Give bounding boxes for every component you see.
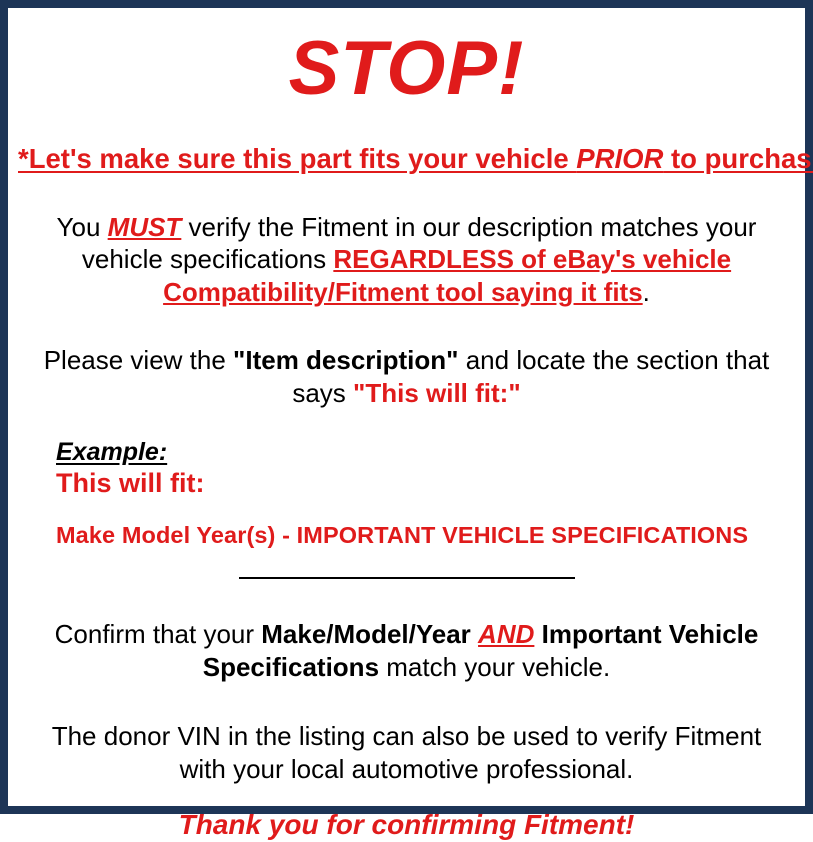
subheadline-part2: to purchasing* — [663, 143, 813, 174]
subheadline: *Let's make sure this part fits your veh… — [18, 143, 795, 175]
stop-headline: STOP! — [18, 31, 795, 107]
pc-space-1 — [471, 619, 478, 649]
pc-and-emphasis: AND — [478, 619, 534, 649]
p2-item-description-emphasis: "Item description" — [233, 345, 458, 375]
p2-this-will-fit-emphasis: "This will fit:" — [353, 378, 521, 408]
pc-segment-5: match your vehicle. — [379, 652, 610, 682]
confirm-paragraph: Confirm that your Make/Model/Year AND Im… — [18, 618, 795, 684]
example-label-row: Example: — [56, 439, 795, 467]
horizontal-divider — [239, 577, 575, 579]
verify-fitment-paragraph: You MUST verify the Fitment in our descr… — [18, 211, 795, 309]
item-description-paragraph: Please view the "Item description" and l… — [18, 344, 795, 410]
closing-thank-you: Thank you for confirming Fitment! — [18, 809, 795, 841]
pc-make-model-year-emphasis: Make/Model/Year — [261, 619, 471, 649]
notice-content: STOP! *Let's make sure this part fits yo… — [8, 8, 805, 806]
divider-wrapper — [18, 569, 795, 587]
p1-segment-1: You — [57, 212, 108, 242]
p2-segment-1: Please view the — [44, 345, 233, 375]
subheadline-part1: *Let's make sure this part fits your veh… — [18, 143, 576, 174]
p1-segment-5: . — [643, 277, 650, 307]
example-spec-line: Make Model Year(s) - IMPORTANT VEHICLE S… — [56, 523, 795, 549]
example-fit-heading: This will fit: — [56, 469, 795, 499]
example-block: Example: This will fit: Make Model Year(… — [18, 439, 795, 548]
pc-segment-1: Confirm that your — [55, 619, 262, 649]
subheadline-prior-emphasis: PRIOR — [576, 143, 663, 174]
pc-space-2 — [534, 619, 541, 649]
p1-must-emphasis: MUST — [108, 212, 182, 242]
example-label: Example: — [56, 439, 167, 467]
fitment-notice-frame: STOP! *Let's make sure this part fits yo… — [0, 0, 813, 814]
donor-vin-paragraph: The donor VIN in the listing can also be… — [18, 720, 795, 786]
